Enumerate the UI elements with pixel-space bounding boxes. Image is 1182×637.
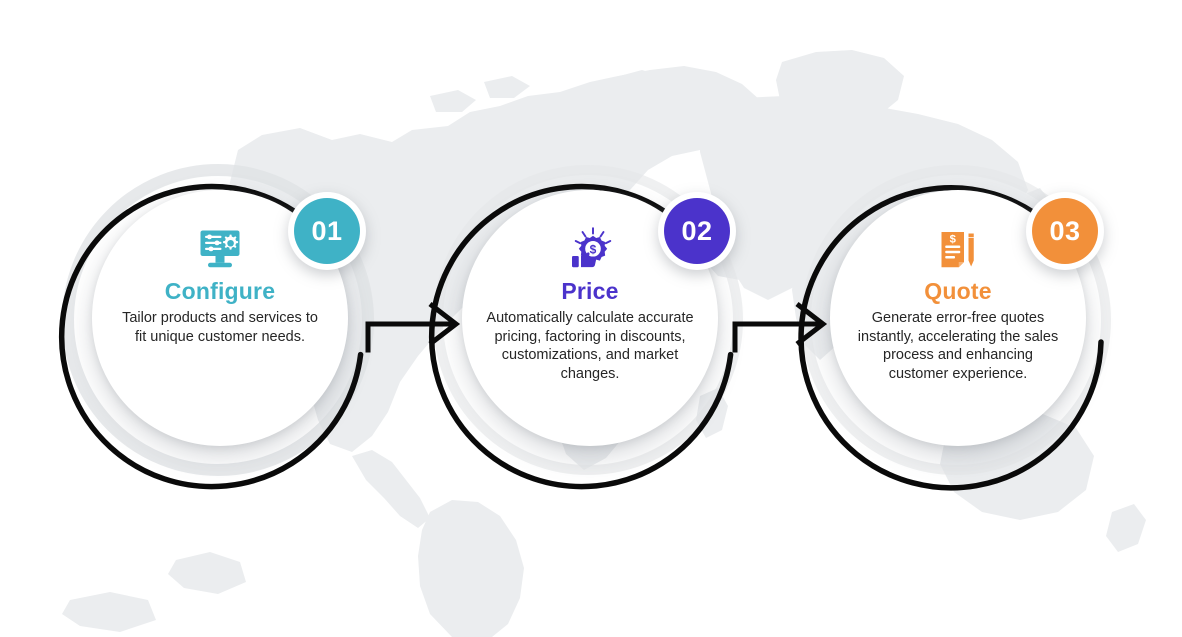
step-title-03: Quote (924, 280, 991, 303)
step-badge-number-01: 01 (294, 198, 360, 264)
connector-arrow-02-03 (727, 290, 847, 360)
step-description-03: Generate error-free quotes instantly, ac… (854, 309, 1062, 383)
step-description-01: Tailor products and services to fit uniq… (116, 309, 324, 346)
monitor-settings-icon (196, 226, 244, 274)
step-badge-01[interactable]: 01 (288, 192, 366, 270)
step-description-02: Automatically calculate accurate pricing… (486, 309, 694, 383)
step-badge-number-02: 02 (664, 198, 730, 264)
price-badge-thumbs-up-icon: $ (566, 226, 614, 274)
step-badge-02[interactable]: 02 (658, 192, 736, 270)
invoice-pen-icon: $ (934, 226, 982, 274)
svg-text:$: $ (950, 234, 957, 246)
step-quote[interactable]: $ Quote Generate error-free quotes insta… (806, 170, 1106, 470)
step-badge-number-03: 03 (1032, 198, 1098, 264)
step-badge-03[interactable]: 03 (1026, 192, 1104, 270)
step-configure[interactable]: Configure Tailor products and services t… (68, 170, 368, 470)
connector-arrow-01-02 (360, 290, 480, 360)
steps-layer: Configure Tailor products and services t… (0, 0, 1182, 637)
svg-text:$: $ (590, 242, 597, 256)
step-title-02: Price (561, 280, 618, 303)
step-title-01: Configure (165, 280, 275, 303)
step-price[interactable]: $ Price Automatically calculate accurate… (438, 170, 738, 470)
infographic-canvas: Configure Tailor products and services t… (0, 0, 1182, 637)
